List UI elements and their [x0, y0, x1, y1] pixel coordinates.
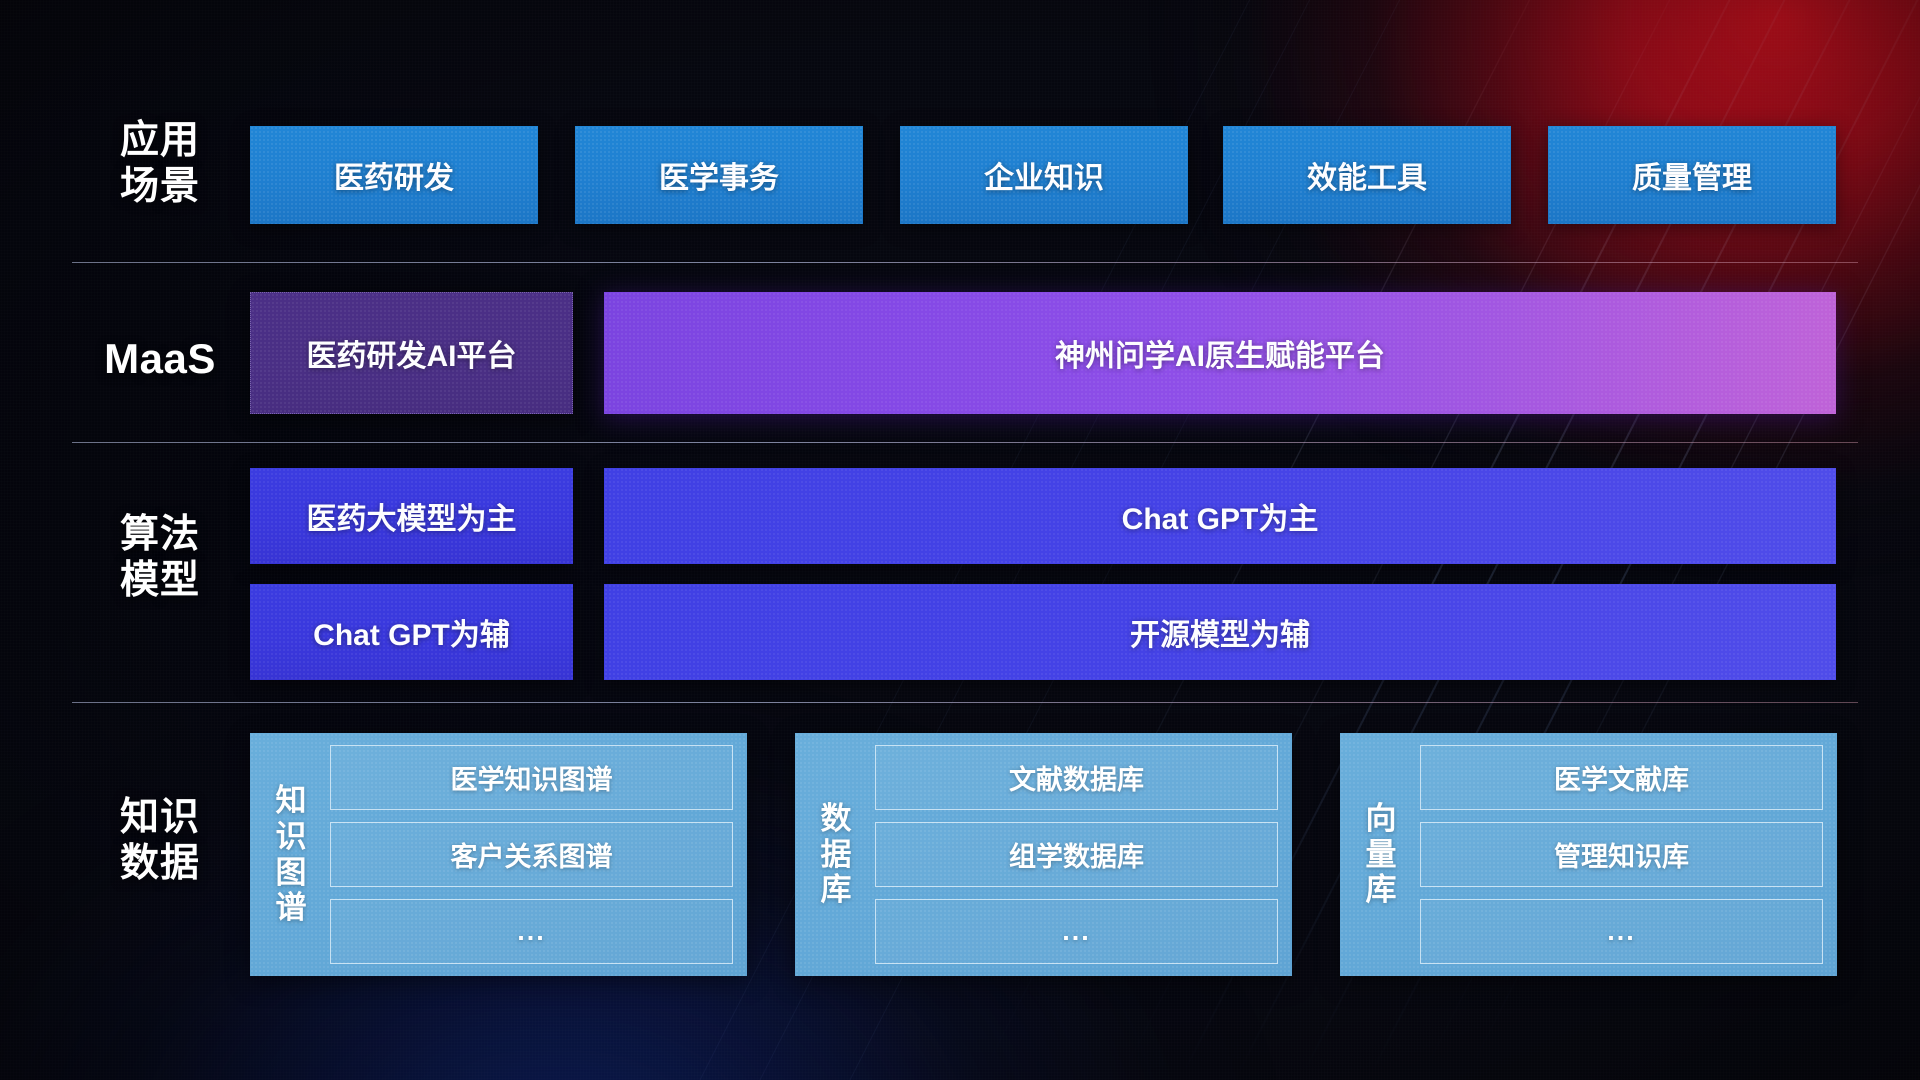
maas-left-block[interactable]: 医药研发AI平台 [250, 292, 573, 414]
app-card-1[interactable]: 医药研发 [250, 126, 538, 224]
knowledge-panel-1[interactable]: 知识图谱 医学知识图谱 客户关系图谱 ... [250, 733, 747, 976]
knowledge-panel-1-item-1[interactable]: 医学知识图谱 [330, 745, 733, 810]
algorithm-line-2-right-block[interactable]: 开源模型为辅 [604, 584, 1836, 680]
knowledge-panel-3-items: 医学文献库 管理知识库 ... [1412, 745, 1823, 964]
divider-application-maas [72, 262, 1858, 263]
divider-algorithm-knowledge [72, 702, 1858, 703]
app-card-2-label: 医学事务 [659, 153, 779, 197]
row-label-algorithm: 算法 模型 [85, 512, 235, 604]
maas-right-block[interactable]: 神州问学AI原生赋能平台 [604, 292, 1836, 414]
app-card-3[interactable]: 企业知识 [900, 126, 1188, 224]
app-card-4[interactable]: 效能工具 [1223, 126, 1511, 224]
maas-left-block-label: 医药研发AI平台 [307, 331, 517, 375]
knowledge-panel-3-item-2[interactable]: 管理知识库 [1420, 822, 1823, 887]
app-card-3-label: 企业知识 [984, 153, 1104, 197]
knowledge-panel-3-item-3[interactable]: ... [1420, 899, 1823, 964]
app-card-5[interactable]: 质量管理 [1548, 126, 1836, 224]
row-label-maas: MaaS [85, 334, 235, 384]
app-card-1-label: 医药研发 [334, 153, 454, 197]
row-label-knowledge: 知识 数据 [85, 795, 235, 887]
knowledge-panel-1-item-2[interactable]: 客户关系图谱 [330, 822, 733, 887]
algorithm-line-2-right-label: 开源模型为辅 [1130, 610, 1310, 654]
divider-maas-algorithm [72, 442, 1858, 443]
app-card-4-label: 效能工具 [1307, 153, 1427, 197]
knowledge-panel-2-item-3[interactable]: ... [875, 899, 1278, 964]
knowledge-panel-3-item-1[interactable]: 医学文献库 [1420, 745, 1823, 810]
app-card-2[interactable]: 医学事务 [575, 126, 863, 224]
knowledge-panel-2[interactable]: 数据库 文献数据库 组学数据库 ... [795, 733, 1292, 976]
knowledge-panel-3-vertical-label: 向量库 [1350, 745, 1412, 964]
algorithm-line-1-right-label: Chat GPT为主 [1122, 494, 1319, 538]
algorithm-line-1-left-label: 医药大模型为主 [307, 494, 517, 538]
knowledge-panel-2-items: 文献数据库 组学数据库 ... [867, 745, 1278, 964]
knowledge-panel-2-item-1[interactable]: 文献数据库 [875, 745, 1278, 810]
knowledge-panel-1-vertical-label: 知识图谱 [260, 745, 322, 964]
algorithm-line-2-left-label: Chat GPT为辅 [313, 610, 510, 654]
maas-right-block-label: 神州问学AI原生赋能平台 [1055, 331, 1385, 375]
algorithm-line-1-right-block[interactable]: Chat GPT为主 [604, 468, 1836, 564]
row-label-application: 应用 场景 [85, 118, 235, 210]
knowledge-panel-2-item-2[interactable]: 组学数据库 [875, 822, 1278, 887]
knowledge-panel-1-item-3[interactable]: ... [330, 899, 733, 964]
knowledge-panel-2-vertical-label: 数据库 [805, 745, 867, 964]
app-card-5-label: 质量管理 [1632, 153, 1752, 197]
algorithm-line-2-left-block[interactable]: Chat GPT为辅 [250, 584, 573, 680]
algorithm-line-1-left-block[interactable]: 医药大模型为主 [250, 468, 573, 564]
knowledge-panel-3[interactable]: 向量库 医学文献库 管理知识库 ... [1340, 733, 1837, 976]
architecture-diagram: 应用 场景 医药研发 医学事务 企业知识 效能工具 质量管理 MaaS 医药研发… [0, 0, 1920, 1080]
knowledge-panel-1-items: 医学知识图谱 客户关系图谱 ... [322, 745, 733, 964]
